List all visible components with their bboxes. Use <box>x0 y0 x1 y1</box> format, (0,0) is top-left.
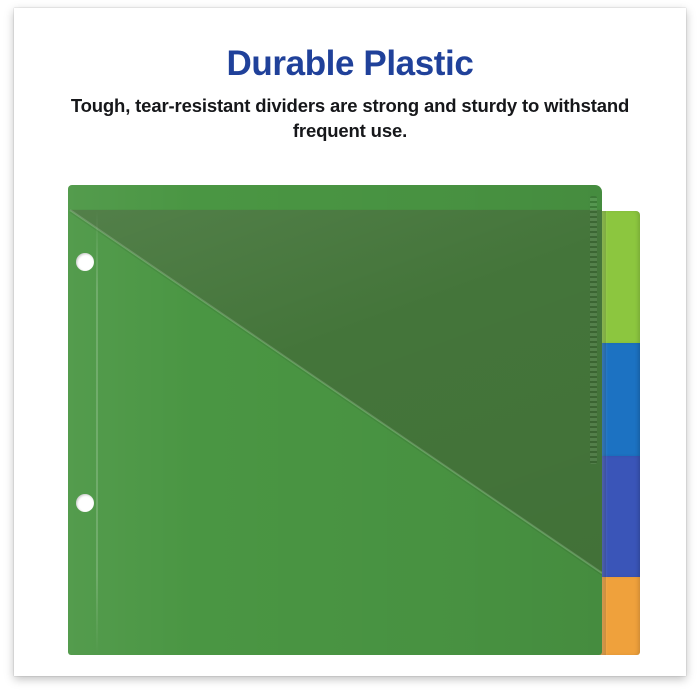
hole-punch-bottom <box>76 494 94 512</box>
reinforced-spine-rib <box>590 196 597 464</box>
product-photo <box>0 0 700 700</box>
fold-line-svg <box>68 185 602 655</box>
punch-column-crease <box>96 210 98 654</box>
product-image-card: Durable Plastic Tough, tear-resistant di… <box>0 0 700 700</box>
hole-punch-top <box>76 253 94 271</box>
pocket-fold-line <box>68 185 602 655</box>
